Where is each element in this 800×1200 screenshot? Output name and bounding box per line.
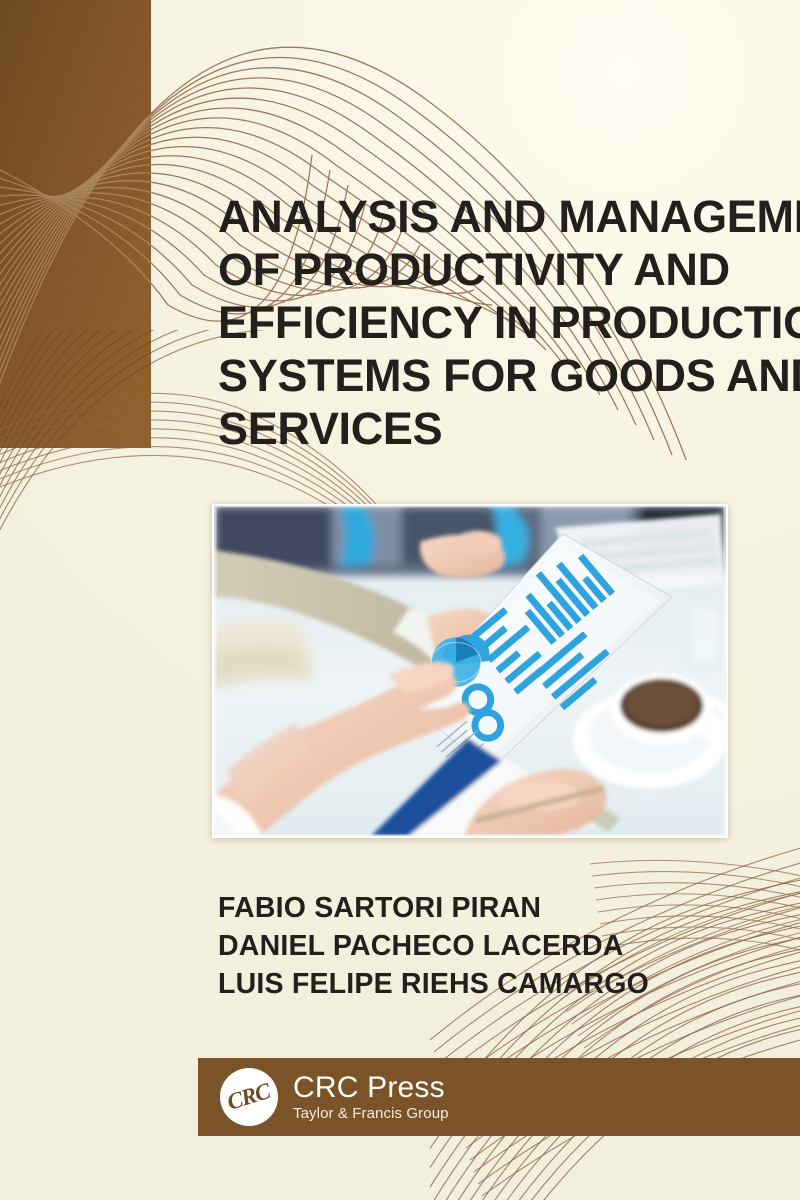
- title-line-3: EFFICIENCY IN PRODUCTION: [218, 296, 763, 349]
- crc-logo-icon: CRC: [220, 1068, 278, 1126]
- book-cover: ANALYSIS AND MANAGEMENT OF PRODUCTIVITY …: [0, 0, 800, 1200]
- title-line-2: OF PRODUCTIVITY AND: [218, 243, 763, 296]
- title-line-4: SYSTEMS FOR GOODS AND: [218, 349, 763, 402]
- author-line-3: LUIS FELIPE RIEHS CAMARGO: [218, 965, 738, 1003]
- publisher-names: CRC Press Taylor & Francis Group: [293, 1071, 449, 1123]
- crc-logo-text: CRC: [225, 1078, 274, 1115]
- book-title: ANALYSIS AND MANAGEMENT OF PRODUCTIVITY …: [218, 190, 763, 455]
- author-line-2: DANIEL PACHECO LACERDA: [218, 927, 738, 965]
- publisher-name: CRC Press: [293, 1071, 449, 1104]
- author-line-1: FABIO SARTORI PIRAN: [218, 889, 738, 927]
- title-line-5: SERVICES: [218, 402, 763, 455]
- publisher-imprint: Taylor & Francis Group: [293, 1104, 449, 1123]
- brown-side-band: [0, 0, 151, 448]
- cover-photo: [212, 504, 728, 838]
- author-list: FABIO SARTORI PIRAN DANIEL PACHECO LACER…: [218, 889, 738, 1003]
- publisher-bar: CRC CRC Press Taylor & Francis Group: [198, 1058, 800, 1136]
- title-line-1: ANALYSIS AND MANAGEMENT: [218, 190, 763, 243]
